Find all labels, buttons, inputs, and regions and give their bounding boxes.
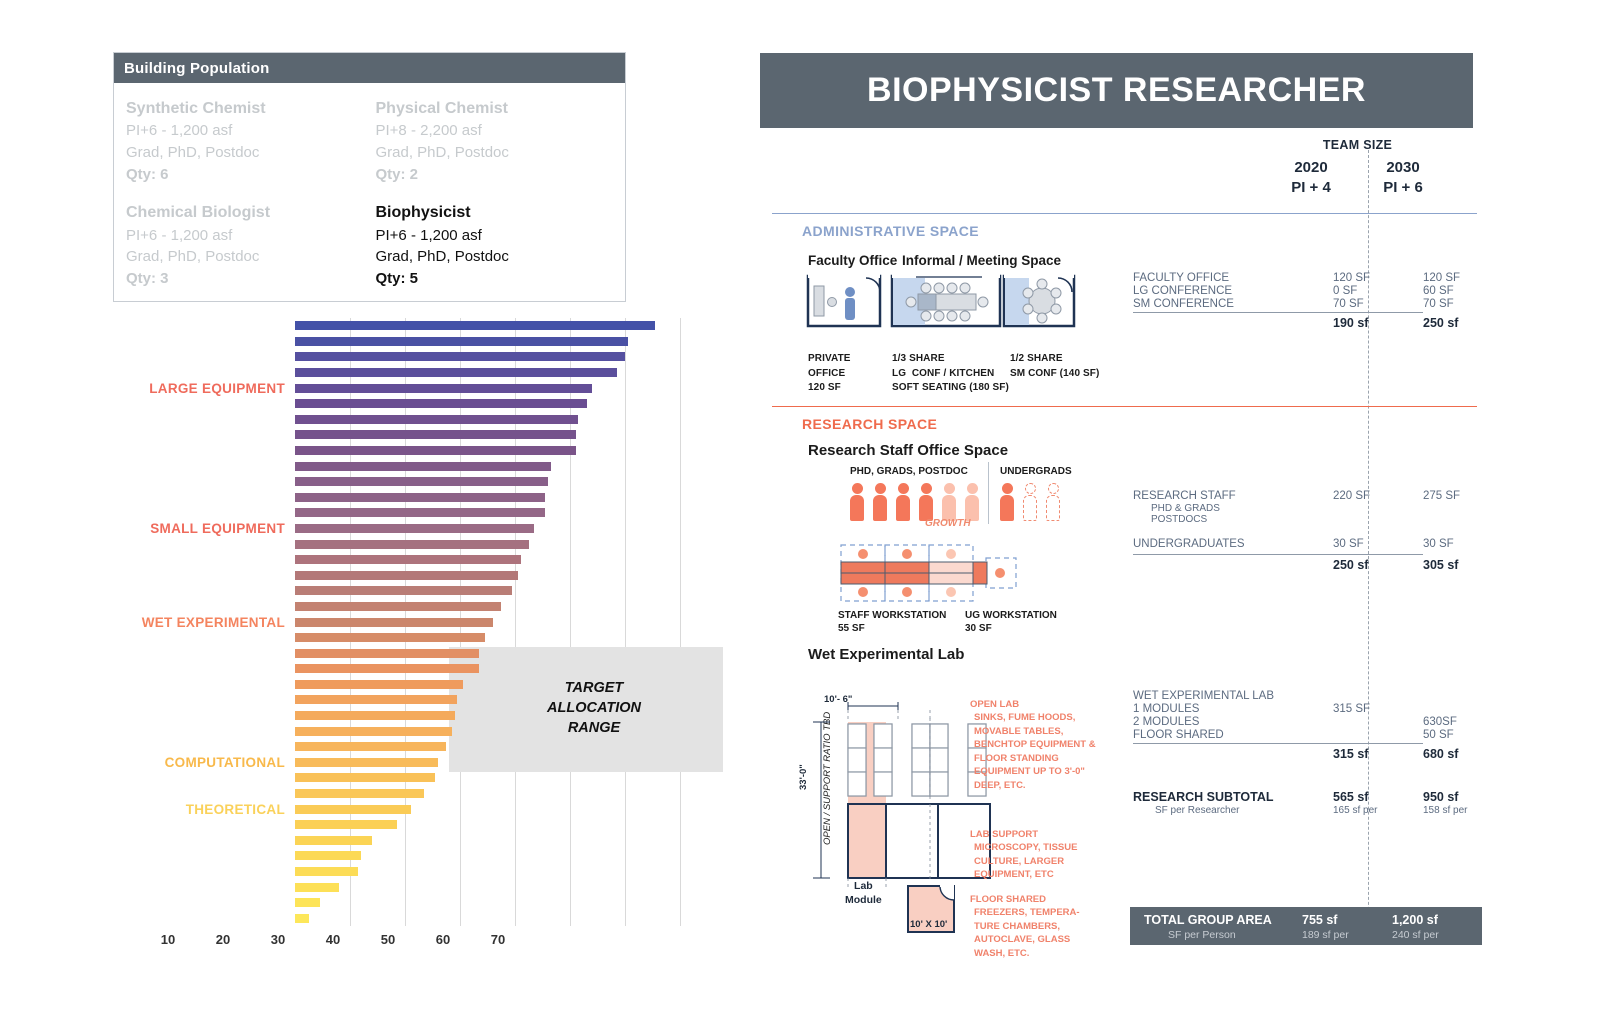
gridline-50 — [570, 318, 571, 926]
bar-25 — [295, 711, 455, 720]
row-value-2030: 630SF — [1423, 716, 1457, 728]
population-role-3: BiophysicistPI+6 - 1,200 asfGrad, PhD, P… — [376, 201, 626, 289]
person-icon-undergrad-0 — [1000, 483, 1014, 521]
annotation-head: LAB SUPPORT — [970, 828, 1077, 841]
role-members: Grad, PhD, Postdoc — [126, 246, 366, 268]
role-name: Physical Chemist — [376, 97, 616, 120]
ug-workstation-value: 30 SF — [965, 622, 992, 636]
bar-8 — [295, 446, 576, 455]
row-value-2020: 315 sf — [1333, 747, 1368, 761]
gridline-60 — [625, 318, 626, 926]
row-value-2030: 70 SF — [1423, 298, 1454, 310]
bar-22 — [295, 664, 479, 673]
row-label: 2 MODULES — [1133, 716, 1199, 728]
bar-12 — [295, 508, 545, 517]
bar-27 — [295, 742, 446, 751]
bar-2 — [295, 352, 625, 361]
row-value-2020: 250 sf — [1333, 558, 1368, 572]
x-tick-20: 20 — [216, 932, 230, 947]
role-qty: Qty: 5 — [376, 268, 616, 290]
building-population-title: Building Population — [124, 60, 269, 77]
role-name: Synthetic Chemist — [126, 97, 366, 120]
gridline-40 — [515, 318, 516, 926]
team-size-header: TEAM SIZE 2020 PI + 4 2030 PI + 6 — [1265, 138, 1450, 197]
x-tick-40: 40 — [326, 932, 340, 947]
role-name: Chemical Biologist — [126, 201, 366, 224]
population-role-grid: Synthetic ChemistPI+6 - 1,200 asfGrad, P… — [114, 83, 625, 290]
bar-7 — [295, 430, 576, 439]
bar-18 — [295, 602, 501, 611]
workstation-plan-diagram — [838, 542, 1038, 604]
row-value-2030: 950 sf — [1423, 790, 1458, 804]
row-label: SM CONFERENCE — [1133, 298, 1234, 310]
gridline-70 — [680, 318, 681, 926]
row-value-2020: 70 SF — [1333, 298, 1364, 310]
research-staff-table: RESEARCH STAFF220 SF275 SFPHD & GRADSPOS… — [1133, 490, 1463, 580]
category-label-small-equipment: SMALL EQUIPMENT — [105, 521, 285, 536]
row-value-2030: 680 sf — [1423, 747, 1458, 761]
wet-experimental-lab-title: Wet Experimental Lab — [808, 646, 964, 663]
row-label: SF per Researcher — [1155, 805, 1239, 816]
growth-label: GROWTH — [925, 518, 971, 529]
annotation-body: MICROSCOPY, TISSUE CULTURE, LARGER EQUIP… — [970, 841, 1077, 881]
bar-26 — [295, 727, 452, 736]
x-tick-50: 50 — [381, 932, 395, 947]
bar-37 — [295, 898, 320, 907]
bar-0 — [295, 321, 655, 330]
population-role-0: Synthetic ChemistPI+6 - 1,200 asfGrad, P… — [126, 97, 376, 185]
row-value-2020: 120 SF — [1333, 272, 1370, 284]
right-panel: BIOPHYSICIST RESEARCHER TEAM SIZE 2020 P… — [760, 0, 1600, 1035]
ug-workstation-label: UG WORKSTATION — [965, 609, 1057, 623]
bar-24 — [295, 695, 457, 704]
bar-38 — [295, 914, 309, 923]
role-qty: Qty: 6 — [126, 164, 366, 186]
total-group-area-sublabel: SF per Person — [1168, 929, 1236, 941]
bar-33 — [295, 836, 372, 845]
team-col-2020: 2020 PI + 4 — [1265, 158, 1357, 197]
total-group-area-2020: 755 sf — [1302, 913, 1337, 927]
meeting-space-caption: 1/3 SHARE LG CONF / KITCHEN SOFT SEATING… — [892, 352, 1009, 396]
total-group-area-label: TOTAL GROUP AREA — [1144, 913, 1272, 927]
row-value-2020: 315 SF — [1333, 703, 1370, 715]
row-label: LG CONFERENCE — [1133, 285, 1232, 297]
table-rule — [1133, 312, 1423, 313]
building-population-header: Building Population — [114, 53, 625, 83]
bar-28 — [295, 758, 438, 767]
x-tick-60: 60 — [436, 932, 450, 947]
row-label: RESEARCH SUBTOTAL — [1133, 790, 1274, 804]
bar-6 — [295, 415, 578, 424]
row-value-2030: 275 SF — [1423, 490, 1460, 502]
x-tick-10: 10 — [161, 932, 175, 947]
chart-x-axis: 10203040506070 — [113, 926, 531, 956]
page-title: BIOPHYSICIST RESEARCHER — [867, 71, 1366, 110]
role-size: PI+6 - 1,200 asf — [126, 225, 366, 247]
team-col-2030-year: 2030 — [1357, 158, 1449, 178]
bar-23 — [295, 680, 463, 689]
total-group-area-2030: 1,200 sf — [1392, 913, 1438, 927]
row-value-2020: 0 SF — [1333, 285, 1357, 297]
category-label-computational: COMPUTATIONAL — [105, 755, 285, 770]
row-label: 1 MODULES — [1133, 703, 1199, 715]
role-members: Grad, PhD, Postdoc — [126, 142, 366, 164]
person-icon-staff-0 — [850, 483, 864, 521]
row-value-2030: 120 SF — [1423, 272, 1460, 284]
table-rule — [1133, 554, 1423, 555]
bar-29 — [295, 773, 435, 782]
bar-4 — [295, 384, 592, 393]
research-section-title: RESEARCH SPACE — [802, 416, 937, 432]
bar-19 — [295, 618, 493, 627]
undergrads-label: UNDERGRADS — [1000, 465, 1072, 479]
meeting-space-figure-title: Informal / Meeting Space — [902, 253, 1061, 268]
left-panel: Building Population Synthetic ChemistPI+… — [0, 0, 760, 1035]
faculty-office-figure-title: Faculty Office — [808, 253, 897, 268]
person-icon-undergrad-1 — [1023, 483, 1037, 521]
lab-annotation-0: OPEN LABSINKS, FUME HOODS, MOVABLE TABLE… — [970, 698, 1096, 792]
annotation-head: OPEN LAB — [970, 698, 1096, 711]
person-icon-staff-5 — [965, 483, 979, 521]
category-label-large-equipment: LARGE EQUIPMENT — [105, 381, 285, 396]
team-size-columns: 2020 PI + 4 2030 PI + 6 — [1265, 158, 1450, 197]
role-qty: Qty: 2 — [376, 164, 616, 186]
bar-11 — [295, 493, 545, 502]
row-value-2020: 190 sf — [1333, 316, 1368, 330]
row-label: FACULTY OFFICE — [1133, 272, 1229, 284]
role-members: Grad, PhD, Postdoc — [376, 246, 616, 268]
role-size: PI+8 - 2,200 asf — [376, 120, 616, 142]
administrative-rule — [772, 213, 1477, 214]
annotation-body: SINKS, FUME HOODS, MOVABLE TABLES, BENCH… — [970, 711, 1096, 792]
lab-annotation-2: FLOOR SHAREDFREEZERS, TEMPERA- TURE CHAM… — [970, 893, 1080, 960]
bar-36 — [295, 883, 339, 892]
total-group-area-2030-sub: 240 sf per — [1392, 929, 1439, 941]
row-value-2020: 165 sf per — [1333, 805, 1377, 816]
row-label: FLOOR SHARED — [1133, 729, 1224, 741]
annotation-body: FREEZERS, TEMPERA- TURE CHAMBERS, AUTOCL… — [970, 906, 1080, 960]
team-col-2020-pi: PI + 4 — [1265, 178, 1357, 198]
person-icon-staff-2 — [896, 483, 910, 521]
team-col-2030-pi: PI + 6 — [1357, 178, 1449, 198]
bar-5 — [295, 399, 587, 408]
team-size-label: TEAM SIZE — [1265, 138, 1450, 152]
faculty-office-caption: PRIVATE OFFICE 120 SF — [808, 352, 851, 396]
row-value-2020: 220 SF — [1333, 490, 1370, 502]
row-value-2020: 565 sf — [1333, 790, 1368, 804]
row-value-2030: 30 SF — [1423, 538, 1454, 550]
population-role-1: Physical ChemistPI+8 - 2,200 asfGrad, Ph… — [376, 97, 626, 185]
bar-16 — [295, 571, 518, 580]
bar-30 — [295, 789, 424, 798]
target-allocation-range-label: TARGET ALLOCATION RANGE — [519, 679, 669, 738]
category-label-theoretical: THEORETICAL — [105, 802, 285, 817]
bar-17 — [295, 586, 512, 595]
wet-lab-table: WET EXPERIMENTAL LAB1 MODULES315 SF2 MOD… — [1133, 690, 1473, 820]
staff-workstation-value: 55 SF — [838, 622, 865, 636]
allocation-bar-chart: TARGET ALLOCATION RANGELARGE EQUIPMENTSM… — [113, 318, 713, 968]
category-label-wet-experimental: WET EXPERIMENTAL — [105, 615, 285, 630]
chart-plot-area: TARGET ALLOCATION RANGELARGE EQUIPMENTSM… — [295, 318, 713, 926]
total-group-area-bar: TOTAL GROUP AREA SF per Person 755 sf 18… — [1130, 907, 1482, 945]
row-value-2030: 158 sf per — [1423, 805, 1467, 816]
row-value-2030: 305 sf — [1423, 558, 1458, 572]
bar-10 — [295, 477, 548, 486]
administrative-section-title: ADMINISTRATIVE SPACE — [802, 223, 979, 239]
bar-21 — [295, 649, 479, 658]
phd-grads-postdoc-label: PHD, GRADS, POSTDOC — [850, 465, 968, 479]
research-staff-office-title: Research Staff Office Space — [808, 442, 1008, 459]
building-population-card: Building Population Synthetic ChemistPI+… — [113, 52, 626, 302]
row-label: RESEARCH STAFF — [1133, 490, 1236, 502]
small-conf-caption: 1/2 SHARE SM CONF (140 SF) — [1010, 352, 1099, 381]
row-value-2030: 60 SF — [1423, 285, 1454, 297]
research-rule — [772, 406, 1477, 407]
bar-9 — [295, 462, 551, 471]
bar-35 — [295, 867, 358, 876]
role-size: PI+6 - 1,200 asf — [126, 120, 366, 142]
table-rule — [1133, 743, 1423, 744]
role-size: PI+6 - 1,200 asf — [376, 225, 616, 247]
team-col-2020-year: 2020 — [1265, 158, 1357, 178]
team-col-2030: 2030 PI + 6 — [1357, 158, 1449, 197]
row-value-2030: 250 sf — [1423, 316, 1458, 330]
person-icon-undergrad-2 — [1046, 483, 1060, 521]
administrative-table: FACULTY OFFICE120 SF120 SFLG CONFERENCE0… — [1133, 272, 1463, 342]
person-icon-staff-3 — [919, 483, 933, 521]
total-group-area-2020-sub: 189 sf per — [1302, 929, 1349, 941]
lab-annotation-1: LAB SUPPORTMICROSCOPY, TISSUE CULTURE, L… — [970, 828, 1077, 882]
row-label: UNDERGRADUATES — [1133, 538, 1245, 550]
annotation-head: FLOOR SHARED — [970, 893, 1080, 906]
x-tick-30: 30 — [271, 932, 285, 947]
staff-workstation-label: STAFF WORKSTATION — [838, 609, 946, 623]
role-name: Biophysicist — [376, 201, 616, 224]
people-group-divider — [988, 462, 989, 524]
bar-14 — [295, 540, 529, 549]
lab-module-label: Lab Module — [845, 880, 882, 907]
row-value-2030: 50 SF — [1423, 729, 1454, 741]
role-qty: Qty: 3 — [126, 268, 366, 290]
x-tick-70: 70 — [491, 932, 505, 947]
bar-31 — [295, 805, 411, 814]
person-icon-staff-4 — [942, 483, 956, 521]
row-value-2020: 30 SF — [1333, 538, 1364, 550]
person-icon-staff-1 — [873, 483, 887, 521]
room-size-label: 10' X 10' — [910, 919, 947, 930]
bar-20 — [295, 633, 485, 642]
bar-1 — [295, 337, 628, 346]
role-members: Grad, PhD, Postdoc — [376, 142, 616, 164]
bar-3 — [295, 368, 617, 377]
population-role-2: Chemical BiologistPI+6 - 1,200 asfGrad, … — [126, 201, 376, 289]
bar-32 — [295, 820, 397, 829]
row-label: PHD & GRADS — [1151, 503, 1220, 514]
row-label: WET EXPERIMENTAL LAB — [1133, 690, 1274, 702]
report-title-bar: BIOPHYSICIST RESEARCHER — [760, 53, 1473, 128]
bar-15 — [295, 555, 521, 564]
bar-13 — [295, 524, 534, 533]
row-label: POSTDOCS — [1151, 514, 1207, 525]
administrative-plan-diagram — [806, 272, 1106, 332]
bar-34 — [295, 851, 361, 860]
